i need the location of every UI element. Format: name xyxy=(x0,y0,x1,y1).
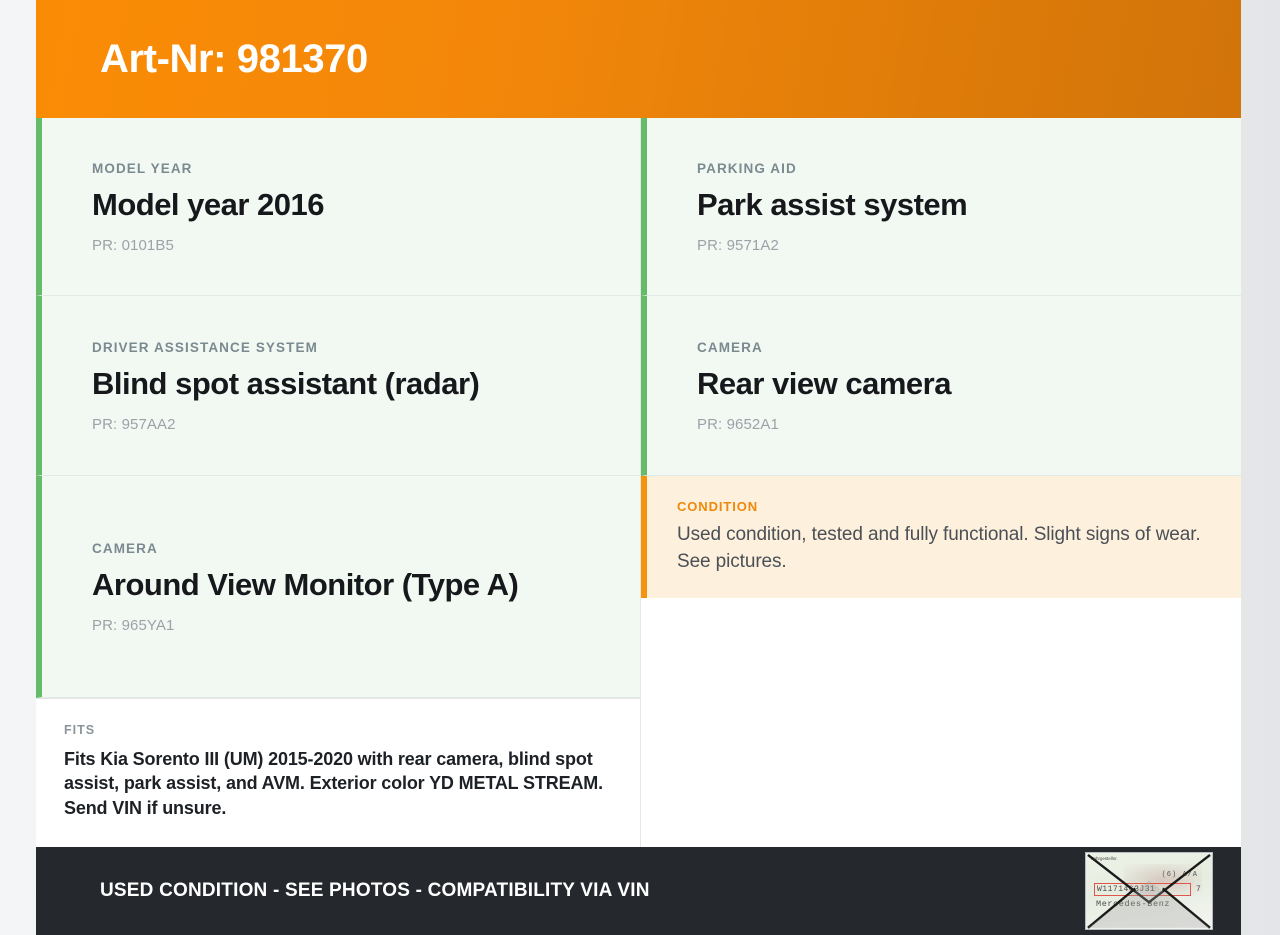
spec-grid: MODEL YEAR Model year 2016 PR: 0101B5 DR… xyxy=(36,118,1241,847)
spec-pr-code: PR: 965YA1 xyxy=(92,617,612,634)
spec-cell-around-view-monitor: CAMERA Around View Monitor (Type A) PR: … xyxy=(36,476,640,698)
spec-pr-code: PR: 9652A1 xyxy=(697,416,1213,433)
condition-text: Used condition, tested and fully functio… xyxy=(677,522,1213,576)
envelope-icon xyxy=(1086,853,1212,930)
footer-banner-text: USED CONDITION - SEE PHOTOS - COMPATIBIL… xyxy=(100,880,650,902)
page-title: Art-Nr: 981370 xyxy=(100,39,368,79)
spec-pr-code: PR: 0101B5 xyxy=(92,237,612,254)
spec-cell-driver-assistance: DRIVER ASSISTANCE SYSTEM Blind spot assi… xyxy=(36,296,640,476)
right-column-filler xyxy=(641,598,1241,847)
spec-pr-code: PR: 9571A2 xyxy=(697,237,1213,254)
condition-card: CONDITION Used condition, tested and ful… xyxy=(641,476,1241,598)
spec-cell-parking-aid: PARKING AID Park assist system PR: 9571A… xyxy=(641,118,1241,296)
spec-title: Model year 2016 xyxy=(92,188,612,223)
spec-label: MODEL YEAR xyxy=(92,161,612,176)
page-header: Art-Nr: 981370 xyxy=(36,0,1241,118)
spec-label: CAMERA xyxy=(697,340,1213,355)
spec-title: Park assist system xyxy=(697,188,1213,223)
spec-cell-model-year: MODEL YEAR Model year 2016 PR: 0101B5 xyxy=(36,118,640,296)
spec-label: PARKING AID xyxy=(697,161,1213,176)
fits-text: Fits Kia Sorento III (UM) 2015-2020 with… xyxy=(64,747,606,820)
spec-label: DRIVER ASSISTANCE SYSTEM xyxy=(92,340,612,355)
spec-title: Rear view camera xyxy=(697,367,1213,402)
spec-pr-code: PR: 957AA2 xyxy=(92,416,612,433)
spec-title: Blind spot assistant (radar) xyxy=(92,367,612,402)
vin-document-thumbnail[interactable]: Fahrgestellnr. (6) A/A W1171463J31 7 Mer… xyxy=(1085,852,1213,930)
spec-sheet-page: Art-Nr: 981370 MODEL YEAR Model year 201… xyxy=(36,0,1241,935)
fits-section: FITS Fits Kia Sorento III (UM) 2015-2020… xyxy=(36,698,640,847)
condition-label: CONDITION xyxy=(677,499,1213,514)
spec-column-right: PARKING AID Park assist system PR: 9571A… xyxy=(640,118,1241,847)
spec-cell-rear-view-camera: CAMERA Rear view camera PR: 9652A1 xyxy=(641,296,1241,476)
spec-column-left: MODEL YEAR Model year 2016 PR: 0101B5 DR… xyxy=(36,118,640,847)
spec-title: Around View Monitor (Type A) xyxy=(92,568,612,603)
spec-label: CAMERA xyxy=(92,541,612,556)
page-footer: USED CONDITION - SEE PHOTOS - COMPATIBIL… xyxy=(36,847,1241,935)
fits-label: FITS xyxy=(64,723,606,737)
